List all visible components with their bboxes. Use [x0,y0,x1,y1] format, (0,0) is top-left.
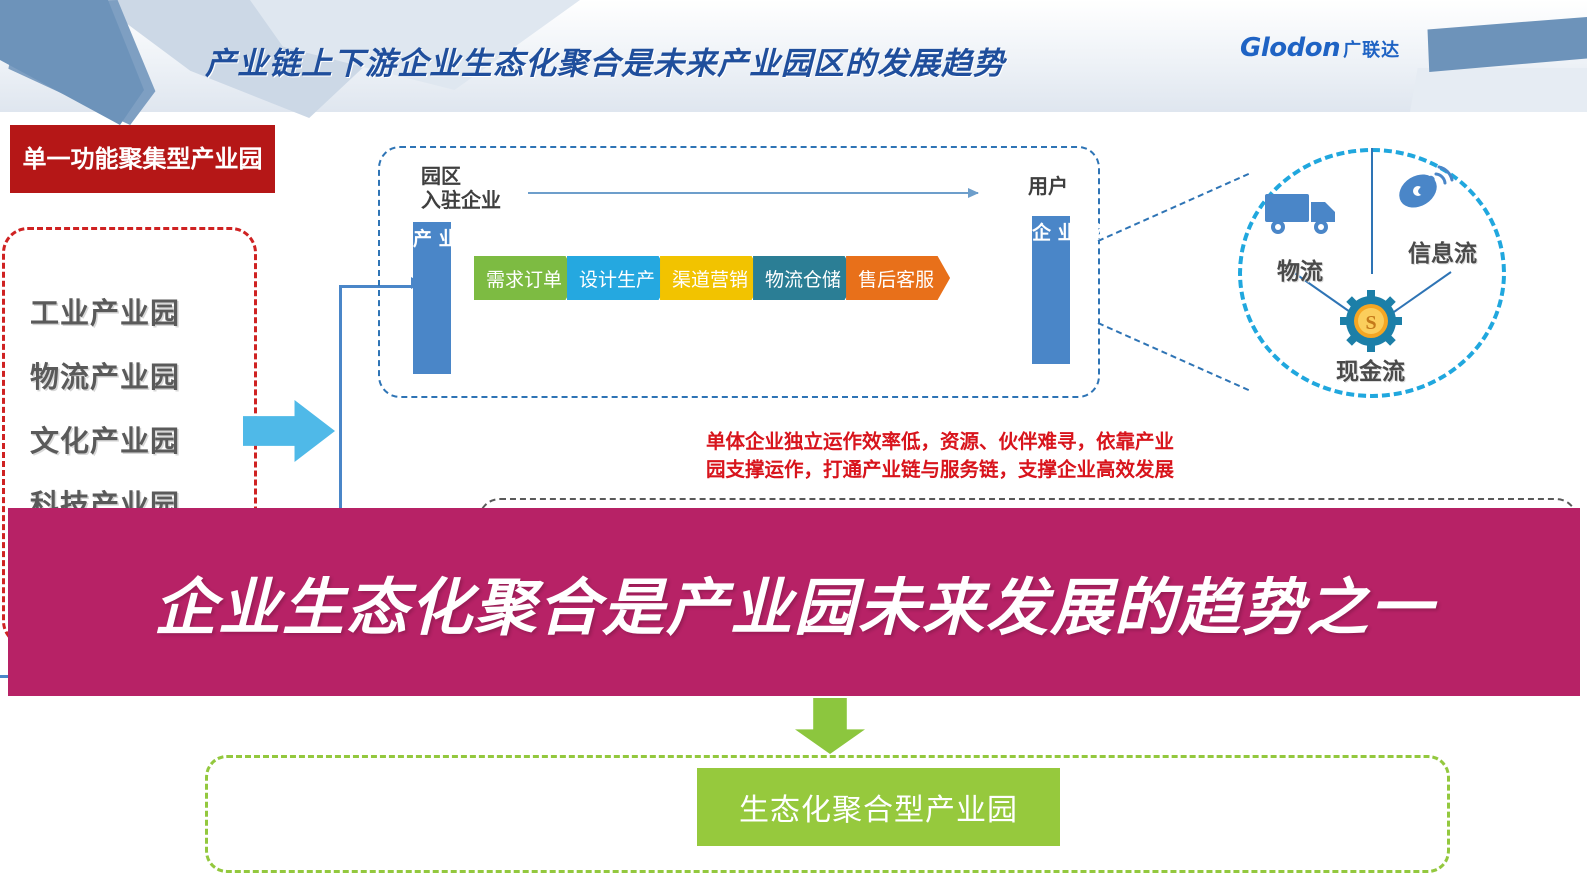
long-right-arrow-icon [528,192,978,194]
brand-logo-cn: 广联达 [1343,40,1400,61]
eco-chip-label[interactable]: 生态化聚合型产业园 [697,768,1060,846]
truck-icon [1265,190,1345,236]
highlight-banner-text: 企业生态化聚合是产业园未来发展的趋势之一 [154,557,1434,647]
header-decor-right-pale [1410,68,1587,112]
category-header: 单一功能聚集型产业园 [10,125,275,193]
slide-canvas: 产业链上下游企业生态化聚合是未来产业园区的发展趋势 Glodon广联达 单一功能… [0,0,1587,892]
red-note-line1: 单体企业独立运作效率低，资源、伙伴难寻，依靠产业 [630,428,1250,456]
tie-line-lower [1098,322,1250,391]
page-title: 产业链上下游企业生态化聚合是未来产业园区的发展趋势 [205,38,1005,83]
list-item[interactable]: 工业产业园 [30,290,260,332]
process-chain: 需求订单设计生产渠道营销物流仓储售后客服 [474,256,939,300]
chain-step-1[interactable]: 需求订单 [474,256,578,300]
svg-text:S: S [1365,312,1376,334]
segment-label-xianjinliu: 现金流 [1336,352,1405,386]
list-item[interactable]: 物流产业园 [30,354,260,396]
red-note-line2: 园支撑运作，打通产业链与服务链，支撑企业高效发展 [630,456,1250,484]
red-note: 单体企业独立运作效率低，资源、伙伴难寻，依靠产业 园支撑运作，打通产业链与服务链… [630,428,1250,483]
highlight-banner: 企业生态化聚合是产业园未来发展的趋势之一 [8,508,1580,696]
consumer-bar: 企 业 或 消 费 者 [1032,216,1070,364]
brand-logo-en: Glodon [1240,33,1340,63]
supplier-bar: 产 业 链 厂 商 [413,222,451,374]
segment-label-wuliu: 物流 [1277,252,1323,286]
brand-logo: Glodon广联达 [1240,33,1400,63]
chain-step-2[interactable]: 设计生产 [567,256,671,300]
user-label: 用户 [1028,170,1068,199]
segment-label-xinxiliu: 信息流 [1408,234,1477,268]
circle-divider-up [1371,148,1373,274]
chain-step-4[interactable]: 物流仓储 [753,256,857,300]
chain-step-5[interactable]: 售后客服 [846,256,950,300]
gear-dollar-icon: S [1340,290,1402,352]
park-label-line2: 入驻企业 [421,189,501,213]
down-arrow-icon [795,698,865,754]
satellite-icon [1392,160,1454,218]
chain-step-3[interactable]: 渠道营销 [660,256,764,300]
park-label-line1: 园区 [421,165,501,189]
list-item[interactable]: 文化产业园 [30,418,260,460]
park-label: 园区 入驻企业 [421,165,501,212]
